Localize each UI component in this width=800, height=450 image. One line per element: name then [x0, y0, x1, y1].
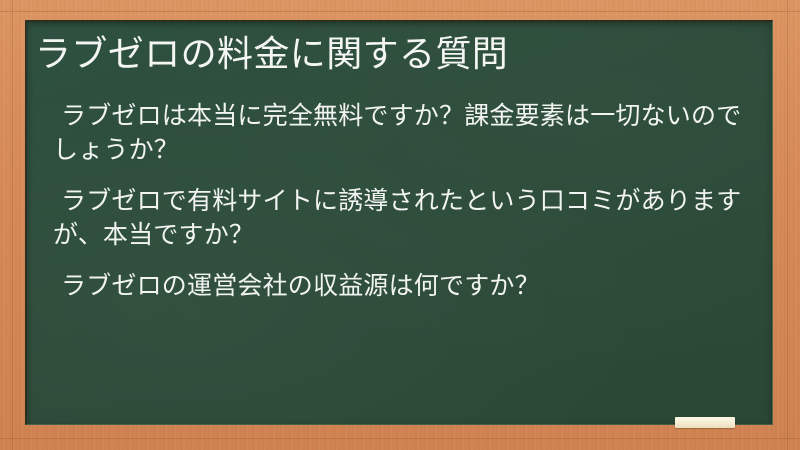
chalkboard-slide: ラブゼロの料金に関する質問 ラブゼロは本当に完全無料ですか？課金要素は一切ないの… — [0, 0, 800, 450]
list-item: ラブゼロで有料サイトに誘導されたという口コミがありますが、本当ですか？ — [53, 184, 748, 253]
frame-mitre-top — [0, 11, 800, 12]
list-item: ラブゼロの運営会社の収益源は何ですか？ — [53, 269, 748, 304]
board-content: ラブゼロの料金に関する質問 ラブゼロは本当に完全無料ですか？課金要素は一切ないの… — [27, 22, 772, 424]
page-title: ラブゼロの料金に関する質問 — [35, 30, 756, 75]
chalkboard-surface: ラブゼロの料金に関する質問 ラブゼロは本当に完全無料ですか？課金要素は一切ないの… — [25, 20, 773, 425]
question-list: ラブゼロは本当に完全無料ですか？課金要素は一切ないのでしょうか？ ラブゼロで有料… — [35, 99, 756, 304]
frame-mitre-left — [12, 0, 13, 450]
frame-mitre-bottom — [0, 438, 800, 439]
frame-mitre-right — [787, 0, 788, 450]
list-item: ラブゼロは本当に完全無料ですか？課金要素は一切ないのでしょうか？ — [53, 99, 748, 168]
chalk-stick-icon — [675, 417, 735, 428]
